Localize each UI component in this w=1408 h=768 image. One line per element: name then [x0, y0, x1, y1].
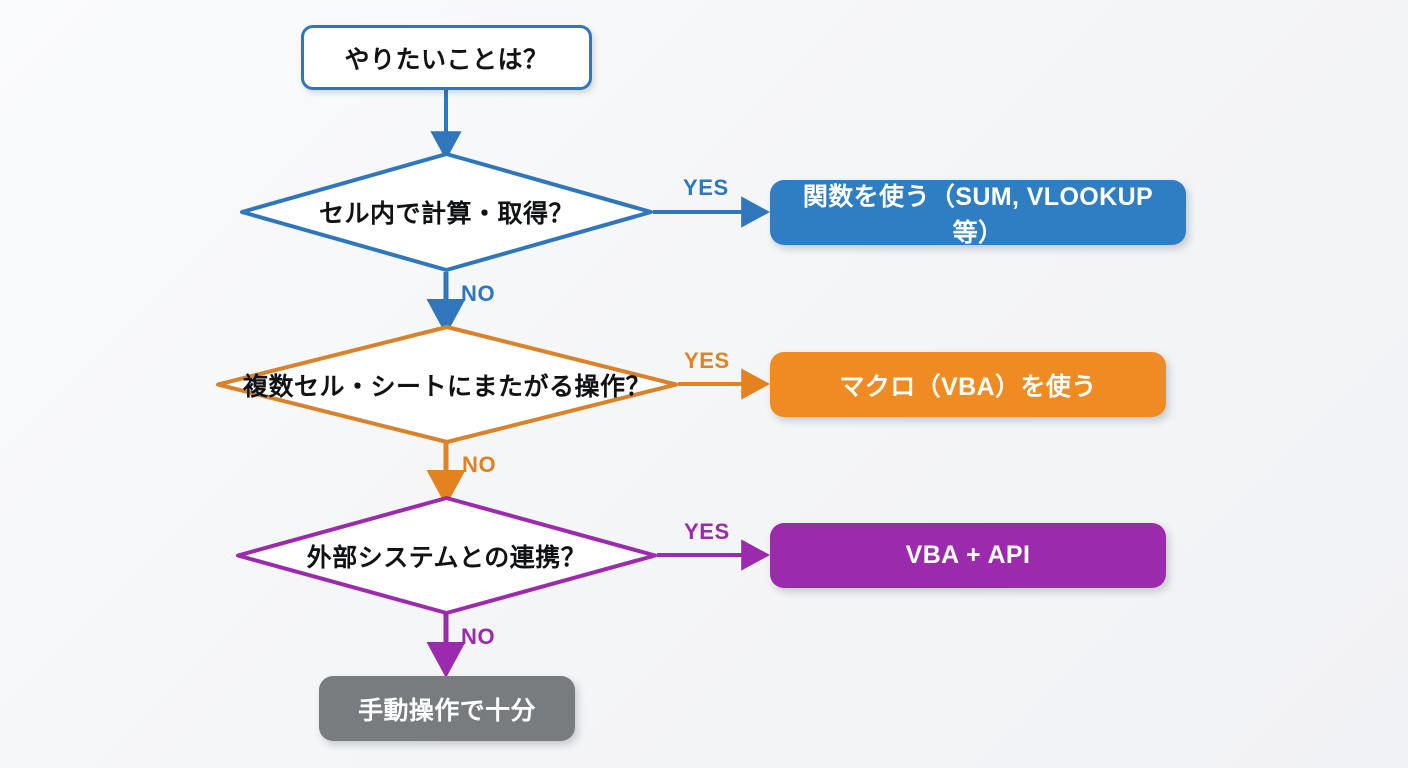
node-result-functions-label: 関数を使う（SUM, VLOOKUP等） — [784, 177, 1172, 249]
edge-label-decision2-yes: YES — [684, 348, 730, 374]
node-result-macro-label: マクロ（VBA）を使う — [839, 367, 1096, 403]
decision-2-shape — [218, 327, 676, 442]
node-decision-2[interactable]: 複数セル・シートにまたがる操作？ — [216, 325, 678, 444]
edge-label-decision3-no: NO — [461, 624, 495, 650]
node-result-manual[interactable]: 手動操作で十分 — [319, 676, 575, 741]
edge-label-decision1-no: NO — [461, 281, 495, 307]
node-decision-3[interactable]: 外部システムとの連携？ — [236, 496, 657, 615]
node-result-vba-api-label: VBA + API — [906, 541, 1031, 570]
node-decision-1[interactable]: セル内で計算・取得？ — [240, 152, 653, 272]
node-result-functions[interactable]: 関数を使う（SUM, VLOOKUP等） — [770, 180, 1186, 245]
flowchart-canvas: やりたいことは？ セル内で計算・取得？ 関数を使う（SUM, VLOOKUP等）… — [0, 0, 1408, 768]
node-result-vba-api[interactable]: VBA + API — [770, 523, 1166, 588]
decision-3-shape — [238, 498, 655, 613]
node-result-manual-label: 手動操作で十分 — [358, 691, 536, 727]
connector-layer — [0, 0, 1408, 768]
edge-label-decision3-yes: YES — [684, 519, 730, 545]
node-start-label: やりたいことは？ — [344, 40, 548, 76]
edge-label-decision2-no: NO — [462, 452, 496, 478]
node-start[interactable]: やりたいことは？ — [301, 25, 592, 90]
node-result-macro[interactable]: マクロ（VBA）を使う — [770, 352, 1166, 417]
edge-label-decision1-yes: YES — [683, 175, 729, 201]
decision-1-shape — [242, 154, 651, 270]
